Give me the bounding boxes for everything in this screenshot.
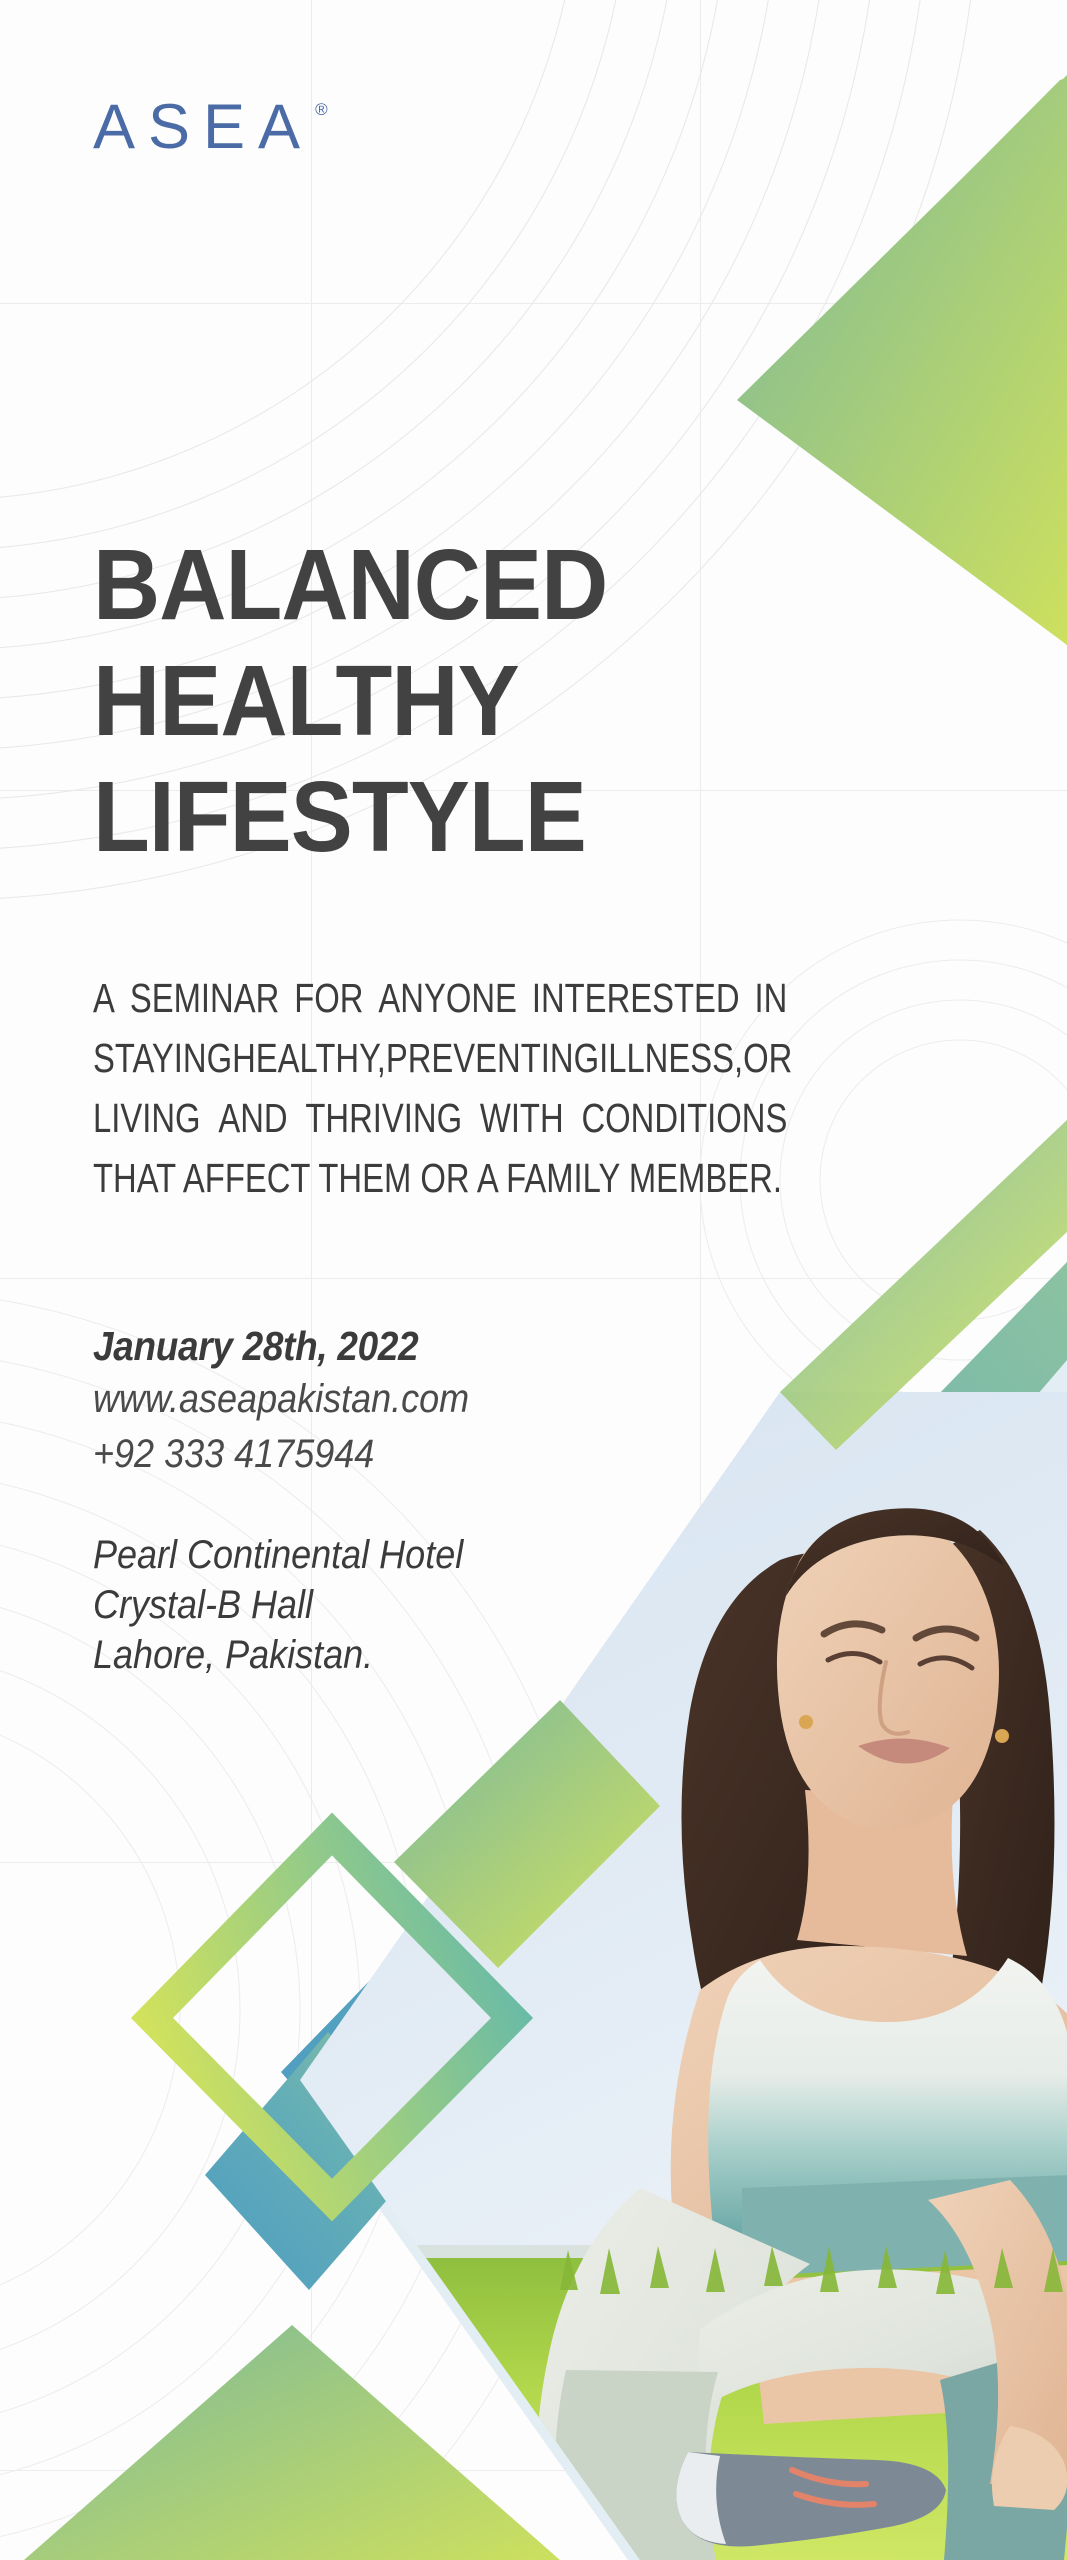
body-line-4: THAT AFFECT THEM OR A FAMILY MEMBER. (93, 1148, 787, 1208)
headline-line-2: HEALTHY (93, 643, 688, 759)
event-date: January 28th, 2022 (93, 1320, 469, 1372)
headline-line-3: LIFESTYLE (93, 759, 688, 875)
photo-earring-left (799, 1715, 813, 1729)
venue-name: Pearl Continental Hotel (93, 1530, 469, 1580)
registered-trademark-icon: ® (315, 100, 328, 120)
poster-artwork (0, 0, 1067, 2560)
poster-canvas: ASEA ® BALANCED HEALTHY LIFESTYLE ASEMIN… (0, 0, 1067, 2560)
venue-city: Lahore, Pakistan. (93, 1630, 469, 1680)
body-line-3: LIVINGANDTHRIVINGWITHCONDITIONS (93, 1088, 787, 1148)
page-title: BALANCED HEALTHY LIFESTYLE (93, 527, 688, 875)
details-spacer (93, 1482, 511, 1530)
seminar-description: ASEMINARFORANYONEINTERESTEDIN STAYINGHEA… (93, 968, 787, 1208)
decor-diamond-bottom-left (24, 2325, 560, 2560)
event-details: January 28th, 2022 www.aseapakistan.com … (93, 1320, 511, 1680)
logo-wordmark: ASEA (93, 96, 313, 159)
headline-line-1: BALANCED (93, 527, 688, 643)
photo-earring-right (995, 1729, 1009, 1743)
event-phone[interactable]: +92 333 4175944 (93, 1427, 469, 1482)
decor-shape-top-right (737, 75, 1067, 645)
body-line-2: STAYINGHEALTHY,PREVENTINGILLNESS,OR (93, 1028, 787, 1088)
venue-hall: Crystal-B Hall (93, 1580, 469, 1630)
event-website[interactable]: www.aseapakistan.com (93, 1372, 469, 1427)
brand-logo[interactable]: ASEA ® (93, 96, 328, 159)
body-line-1: ASEMINARFORANYONEINTERESTEDIN (93, 968, 787, 1028)
